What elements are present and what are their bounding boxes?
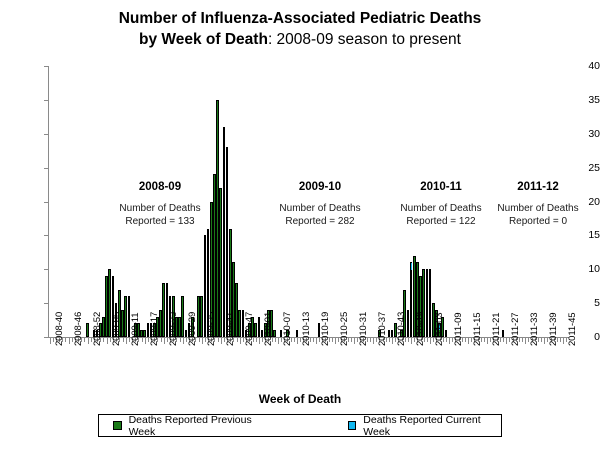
x-tick-mark-major — [506, 338, 507, 344]
season-name: 2009-10 — [260, 181, 380, 193]
x-tick-mark-minor — [484, 338, 485, 342]
y-tick-mark — [44, 303, 48, 304]
x-tick-label: 2011-03 — [434, 313, 445, 346]
y-tick-mark — [44, 202, 48, 203]
y-tick-label: 25 — [560, 162, 600, 174]
x-tick-mark-major — [221, 338, 222, 344]
x-tick-mark-major — [487, 338, 488, 344]
x-tick-label: 2008-46 — [73, 312, 84, 346]
x-tick-label: 2009-41 — [225, 312, 236, 346]
x-tick-mark-minor — [370, 338, 371, 342]
x-tick-mark-major — [126, 338, 127, 344]
y-tick-label: 10 — [560, 263, 600, 275]
legend-entry-previous-week: Deaths Reported Previous Week — [113, 414, 272, 438]
x-tick-mark-major — [354, 338, 355, 344]
legend-entry-current-week: Deaths Reported Current Week — [348, 414, 501, 438]
x-tick-label: 2009-47 — [244, 312, 255, 346]
bar — [86, 323, 89, 337]
x-tick-mark-minor — [427, 338, 428, 342]
x-tick-label: 2011-33 — [529, 313, 540, 346]
x-tick-label: 2011-27 — [510, 313, 521, 346]
season-name: 2008-09 — [100, 181, 220, 193]
x-tick-mark-major — [373, 338, 374, 344]
x-tick-mark-major — [335, 338, 336, 344]
x-tick-label: 2009-29 — [187, 312, 198, 346]
x-tick-mark-major — [411, 338, 412, 344]
x-tick-label: 2010-43 — [396, 312, 407, 346]
x-tick-mark-major — [69, 338, 70, 344]
page-title: Number of Influenza-Associated Pediatric… — [0, 8, 600, 50]
x-tick-label: 2010-31 — [358, 312, 369, 346]
x-tick-label: 2011-09 — [453, 313, 464, 346]
season-count-line-2: Reported = 282 — [260, 215, 380, 228]
x-tick-mark-major — [430, 338, 431, 344]
x-tick-mark-minor — [275, 338, 276, 342]
y-tick-mark — [44, 269, 48, 270]
y-tick-label: 35 — [560, 94, 600, 106]
season-annotation: 2009-10Number of DeathsReported = 282 — [260, 181, 380, 228]
season-annotation: 2008-09Number of DeathsReported = 133 — [100, 181, 220, 228]
legend-label-previous-week: Deaths Reported Previous Week — [129, 414, 272, 438]
x-tick-label: 2010-25 — [339, 312, 350, 346]
x-tick-mark-major — [278, 338, 279, 344]
plot-area: 2008-09Number of DeathsReported = 133200… — [48, 66, 568, 337]
x-tick-label: 2010-13 — [301, 312, 312, 346]
y-tick-mark — [44, 168, 48, 169]
x-tick-label: 2010-07 — [282, 312, 293, 346]
x-tick-mark-major — [145, 338, 146, 344]
x-tick-mark-minor — [560, 338, 561, 342]
x-tick-mark-minor — [218, 338, 219, 342]
x-tick-mark-major — [183, 338, 184, 344]
x-tick-mark-minor — [237, 338, 238, 342]
x-tick-mark-minor — [465, 338, 466, 342]
x-tick-mark-major — [563, 338, 564, 344]
y-tick-label: 30 — [560, 128, 600, 140]
x-tick-mark-major — [297, 338, 298, 344]
x-tick-mark-major — [50, 338, 51, 344]
x-tick-mark-minor — [123, 338, 124, 342]
season-count-line-1: Number of Deaths — [100, 202, 220, 215]
x-tick-mark-minor — [180, 338, 181, 342]
x-tick-mark-minor — [199, 338, 200, 342]
x-tick-mark-minor — [256, 338, 257, 342]
x-tick-mark-minor — [313, 338, 314, 342]
x-tick-label: 2009-17 — [149, 312, 160, 346]
x-tick-mark-minor — [541, 338, 542, 342]
x-tick-label: 2010-19 — [320, 312, 331, 346]
x-tick-mark-minor — [161, 338, 162, 342]
chart-legend: Deaths Reported Previous Week Deaths Rep… — [98, 414, 502, 437]
legend-label-current-week: Deaths Reported Current Week — [363, 414, 501, 438]
x-tick-mark-major — [392, 338, 393, 344]
y-tick-mark — [44, 134, 48, 135]
x-tick-mark-major — [449, 338, 450, 344]
x-tick-label: 2010-37 — [377, 312, 388, 346]
y-tick-mark — [44, 66, 48, 67]
x-tick-label: 2009-23 — [168, 312, 179, 346]
x-tick-label: 2009-11 — [130, 313, 141, 346]
x-tick-label: 2011-21 — [491, 313, 502, 346]
x-tick-mark-minor — [522, 338, 523, 342]
x-tick-label: 2008-52 — [92, 312, 103, 346]
x-tick-mark-major — [316, 338, 317, 344]
x-tick-mark-minor — [103, 338, 104, 342]
title-line-2: by Week of Death: 2008-09 season to pres… — [0, 29, 600, 50]
y-tick-label: 5 — [560, 297, 600, 309]
x-tick-label: 2010-49 — [415, 312, 426, 346]
x-tick-mark-minor — [389, 338, 390, 342]
x-tick-mark-minor — [408, 338, 409, 342]
x-tick-label: 2008-40 — [54, 312, 65, 346]
season-name: 2011-12 — [478, 181, 598, 193]
bar — [296, 330, 299, 337]
x-tick-label: 2011-15 — [472, 313, 483, 346]
x-tick-mark-major — [544, 338, 545, 344]
x-tick-label: 2011-39 — [548, 313, 559, 346]
bar — [502, 330, 505, 337]
title-line-2-rest: : 2008-09 season to present — [268, 31, 461, 48]
y-axis-title: Number of deaths — [0, 59, 3, 157]
x-tick-mark-major — [164, 338, 165, 344]
x-tick-mark-minor — [84, 338, 85, 342]
x-tick-label: 2011-45 — [567, 313, 578, 346]
x-tick-mark-minor — [446, 338, 447, 342]
x-tick-mark-major — [202, 338, 203, 344]
season-count-line-2: Reported = 133 — [100, 215, 220, 228]
x-tick-mark-major — [240, 338, 241, 344]
x-tick-mark-major — [259, 338, 260, 344]
x-tick-mark-minor — [294, 338, 295, 342]
x-tick-mark-major — [525, 338, 526, 344]
x-tick-mark-minor — [332, 338, 333, 342]
x-tick-label: 2010-01 — [263, 312, 274, 346]
x-tick-mark-minor — [142, 338, 143, 342]
x-tick-mark-major — [107, 338, 108, 344]
y-tick-mark — [44, 337, 48, 338]
y-tick-label: 40 — [560, 60, 600, 72]
x-tick-mark-major — [88, 338, 89, 344]
x-axis-title: Week of Death — [0, 392, 600, 406]
y-tick-mark — [44, 235, 48, 236]
y-tick-label: 15 — [560, 229, 600, 241]
x-tick-mark-minor — [351, 338, 352, 342]
legend-swatch-previous-week — [113, 421, 122, 430]
bar-current-week-segment — [411, 263, 412, 270]
title-line-2-bold: by Week of Death — [139, 31, 268, 48]
x-tick-mark-major — [468, 338, 469, 344]
x-tick-mark-minor — [503, 338, 504, 342]
x-tick-label: 2009-05 — [111, 312, 122, 346]
y-tick-label: 20 — [560, 196, 600, 208]
title-line-1: Number of Influenza-Associated Pediatric… — [0, 8, 600, 29]
x-tick-label: 2009-35 — [206, 312, 217, 346]
legend-swatch-current-week — [348, 421, 357, 430]
season-count-line-1: Number of Deaths — [260, 202, 380, 215]
x-tick-mark-minor — [65, 338, 66, 342]
season-count-line-2: Reported = 0 — [478, 215, 598, 228]
y-tick-mark — [44, 100, 48, 101]
